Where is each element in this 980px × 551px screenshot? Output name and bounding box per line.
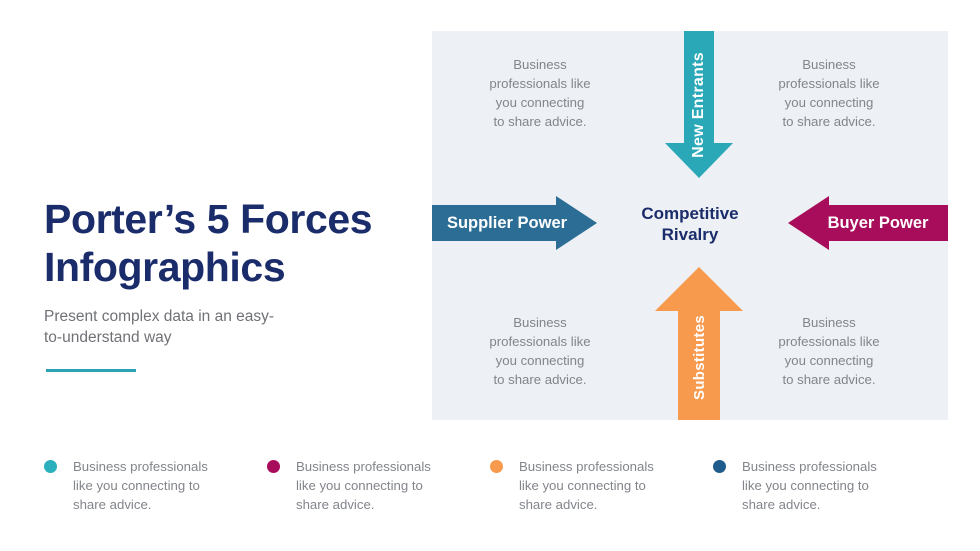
page-subtitle: Present complex data in an easy- to-unde… [44,306,294,349]
buyer-power-label: Buyer Power [808,196,948,250]
legend-item-label: Business professionals like you connecti… [742,457,877,514]
legend-row: Business professionals like you connecti… [44,457,936,514]
legend-item-label: Business professionals like you connecti… [73,457,208,514]
legend-item[interactable]: Business professionals like you connecti… [44,457,267,514]
legend-item[interactable]: Business professionals like you connecti… [490,457,713,514]
new-entrants-label-text: New Entrants [690,52,708,158]
legend-item-label: Business professionals like you connecti… [296,457,431,514]
substitutes-label-text: Substitutes [691,315,708,400]
legend-item[interactable]: Business professionals like you connecti… [713,457,936,514]
supplier-power-label: Supplier Power [432,196,582,250]
legend-bullet-icon [267,460,280,473]
slide-canvas: Porter’s 5 Forces Infographics Present c… [0,0,980,551]
accent-rule-divider [46,369,136,372]
legend-bullet-icon [44,460,57,473]
legend-item-label: Business professionals like you connecti… [519,457,654,514]
legend-bullet-icon [490,460,503,473]
quadrant-text-top-right: Business professionals like you connecti… [754,55,904,132]
legend-item[interactable]: Business professionals like you connecti… [267,457,490,514]
quadrant-text-bottom-left: Business professionals like you connecti… [465,313,615,390]
title-block: Porter’s 5 Forces Infographics Present c… [44,196,404,349]
substitutes-label: Substitutes [665,295,733,420]
page-title: Porter’s 5 Forces Infographics [44,196,404,292]
new-entrants-label: New Entrants [665,31,733,178]
legend-bullet-icon [713,460,726,473]
quadrant-text-bottom-right: Business professionals like you connecti… [754,313,904,390]
competitive-rivalry-label: Competitive Rivalry [610,203,770,246]
porters-five-forces-diagram: Business professionals like you connecti… [432,31,948,420]
quadrant-text-top-left: Business professionals like you connecti… [465,55,615,132]
